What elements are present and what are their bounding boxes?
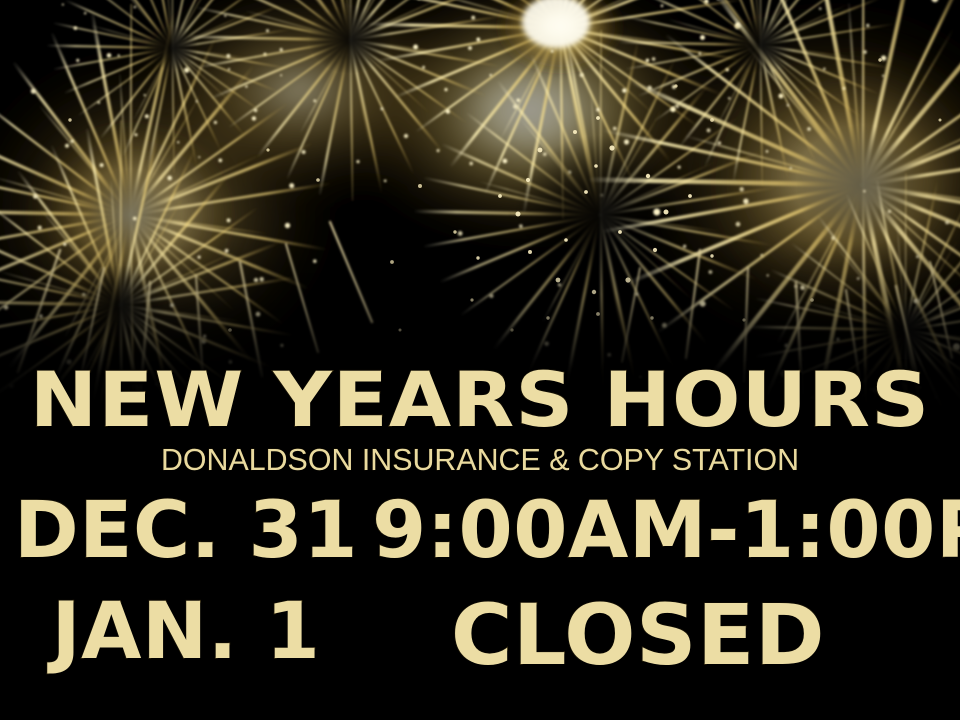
hours-day-label: DEC. 31 — [0, 492, 372, 570]
new-years-hours-poster: NEW YEARS HOURS DONALDSON INSURANCE & CO… — [0, 0, 960, 720]
page-title: NEW YEARS HOURS — [0, 362, 960, 438]
hours-time-value: 9:00AM-1:00PM — [372, 492, 960, 570]
business-name: DONALDSON INSURANCE & COPY STATION — [10, 444, 951, 475]
hours-row: JAN. 1 CLOSED — [0, 593, 960, 694]
hours-day-label: JAN. 1 — [0, 593, 372, 671]
hours-time-value: CLOSED — [358, 593, 918, 677]
hours-row: DEC. 31 9:00AM-1:00PM — [0, 492, 960, 593]
poster-text-layer: NEW YEARS HOURS DONALDSON INSURANCE & CO… — [0, 0, 960, 720]
hours-table: DEC. 31 9:00AM-1:00PM JAN. 1 CLOSED — [0, 492, 960, 694]
